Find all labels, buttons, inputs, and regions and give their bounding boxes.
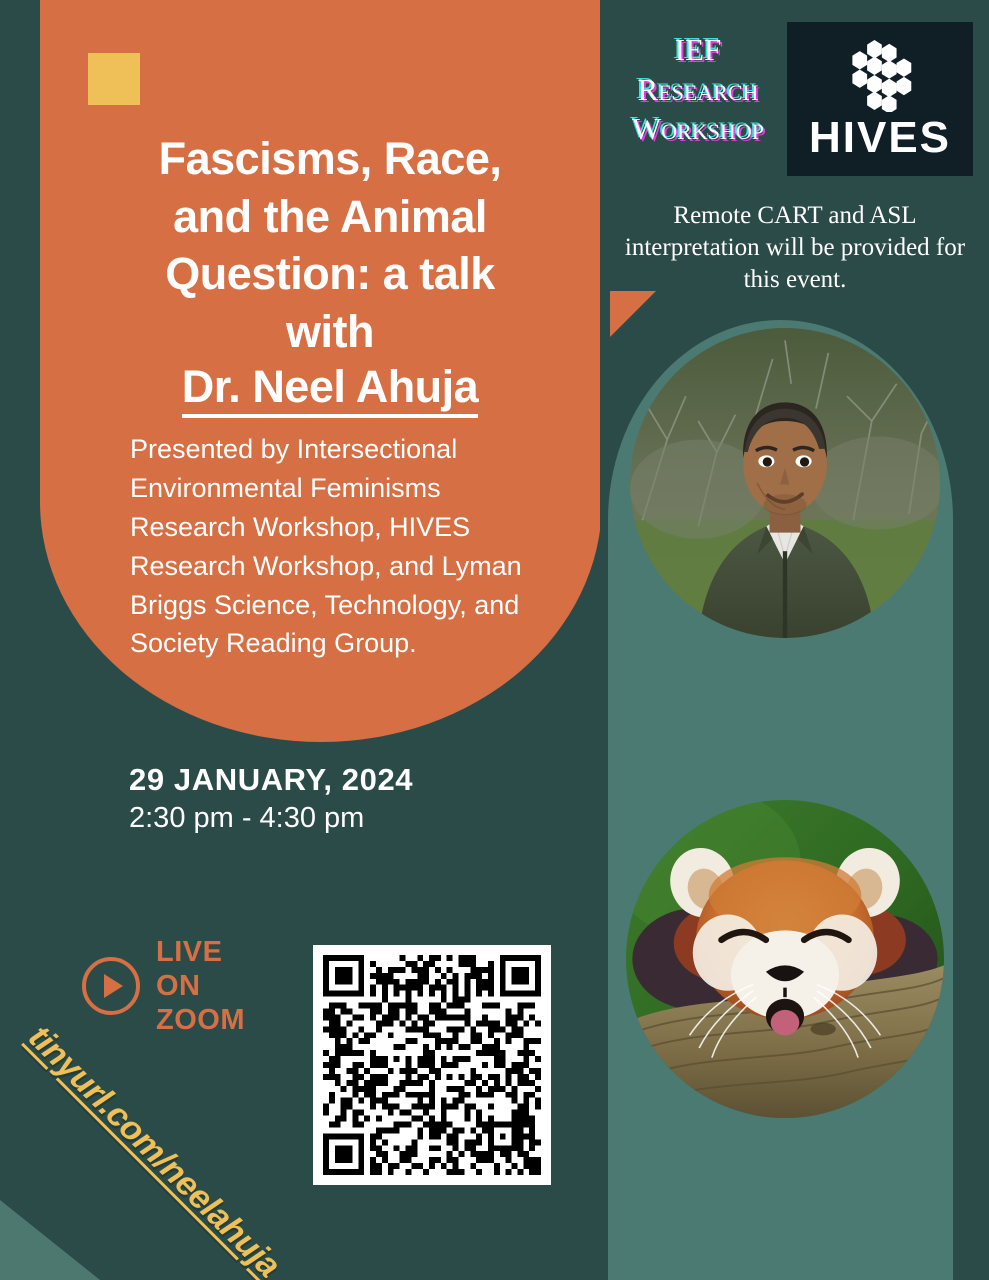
title-line-1: Fascisms, Race,	[118, 130, 542, 188]
orange-triangle-accent	[610, 291, 656, 337]
ief-line-3: Workshop	[608, 109, 788, 149]
hives-logo: HIVES	[787, 22, 973, 176]
zoom-badge-text: LIVE ON ZOOM	[156, 935, 245, 1038]
yellow-square-accent	[88, 53, 140, 105]
title-line-2: and the Animal	[118, 188, 542, 246]
title-line-4: with	[118, 303, 542, 361]
title-line-3: Question: a talk	[118, 245, 542, 303]
accessibility-note: Remote CART and ASL interpretation will …	[610, 200, 980, 296]
honeycomb-hexagon-icon	[834, 38, 926, 112]
live-on-zoom-badge: LIVE ON ZOOM	[82, 935, 245, 1038]
qr-code[interactable]	[313, 945, 551, 1185]
ief-line-1: IEF	[608, 30, 788, 70]
left-column: Fascisms, Race, and the Animal Question:…	[0, 0, 600, 1280]
title-speaker-name: Dr. Neel Ahuja	[182, 360, 478, 418]
page-title: Fascisms, Race, and the Animal Question:…	[118, 130, 542, 418]
ief-line-2: Research	[608, 70, 788, 110]
play-triangle-icon	[104, 974, 123, 998]
zoom-line-1: LIVE	[156, 935, 245, 969]
play-circle-icon	[82, 957, 140, 1015]
qr-code-canvas	[323, 955, 541, 1175]
corner-triangle-accent	[0, 1200, 100, 1280]
event-poster: Fascisms, Race, and the Animal Question:…	[0, 0, 989, 1280]
zoom-line-2: ON	[156, 969, 245, 1003]
event-date: 29 JANUARY, 2024	[129, 762, 413, 798]
portrait-photo-neel-ahuja	[630, 328, 940, 638]
ief-workshop-title: IEF Research Workshop	[608, 30, 788, 149]
red-panda-photo	[626, 800, 944, 1118]
zoom-line-3: ZOOM	[156, 1003, 245, 1037]
hives-wordmark: HIVES	[809, 116, 951, 160]
event-time: 2:30 pm - 4:30 pm	[129, 802, 364, 835]
presented-by-text: Presented by Intersectional Environmenta…	[130, 430, 530, 663]
